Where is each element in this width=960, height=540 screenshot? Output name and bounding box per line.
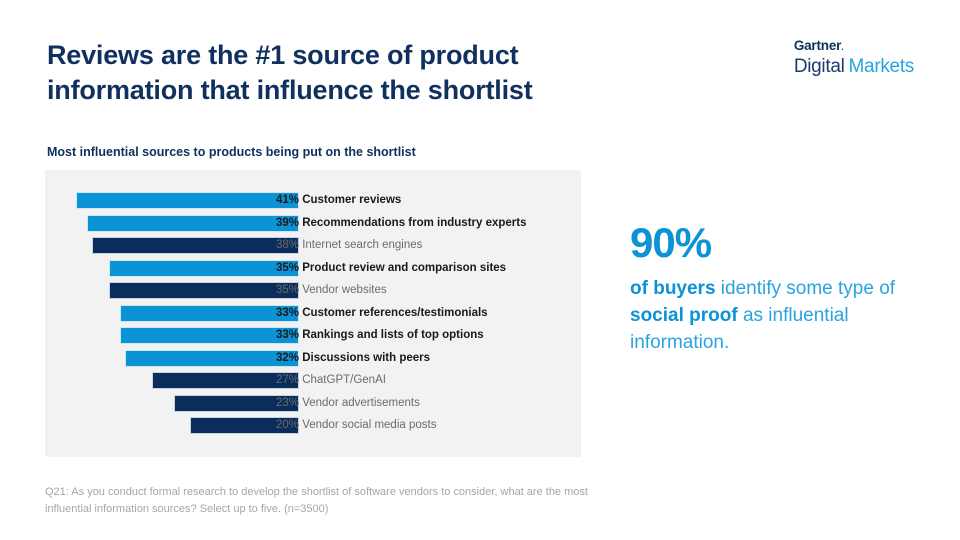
logo-subbrand-line: DigitalMarkets — [794, 56, 914, 79]
chart-row: 20% Vendor social media posts — [45, 415, 581, 438]
chart-row: 35% Vendor websites — [45, 280, 581, 303]
logo-subbrand-digital: Digital — [794, 56, 845, 77]
chart-row: 23% Vendor advertisements — [45, 393, 581, 416]
callout-percentage: 90% — [630, 222, 920, 264]
bar-blue — [109, 260, 299, 277]
bar-blue — [76, 192, 299, 209]
stat-callout: 90% of buyers identify some type of soci… — [630, 222, 920, 357]
chart-row: 39% Recommendations from industry expert… — [45, 213, 581, 236]
chart-subtitle: Most influential sources to products bei… — [47, 145, 416, 159]
callout-segment-identify: identify some type of — [716, 278, 896, 299]
chart-row: 33% Customer references/testimonials — [45, 303, 581, 326]
chart-row: 38% Internet search engines — [45, 235, 581, 258]
bar-row-label: 20% Vendor social media posts — [276, 415, 436, 436]
slide-root: Reviews are the #1 source of product inf… — [0, 0, 960, 540]
bar-blue — [125, 350, 299, 367]
chart-row: 27% ChatGPT/GenAI — [45, 370, 581, 393]
page-title: Reviews are the #1 source of product inf… — [47, 38, 707, 108]
logo-brand-line: Gartner. — [794, 38, 914, 54]
bar-row-label: 27% ChatGPT/GenAI — [276, 370, 386, 391]
page-title-line-2: information that influence the shortlist — [47, 73, 707, 108]
bar-track — [76, 192, 299, 209]
chart-row: 35% Product review and comparison sites — [45, 258, 581, 281]
bar-row-label: 35% Vendor websites — [276, 280, 387, 301]
logo-registered-mark: . — [841, 42, 843, 52]
bar-track — [76, 305, 299, 322]
callout-segment-of-buyers: of buyers — [630, 278, 716, 299]
bar-track — [76, 215, 299, 232]
chart-footnote: Q21: As you conduct formal research to d… — [45, 484, 590, 518]
bar-navy — [109, 282, 299, 299]
bar-track — [76, 350, 299, 367]
bar-track — [76, 282, 299, 299]
bar-blue — [120, 305, 300, 322]
bar-row-label: 35% Product review and comparison sites — [276, 258, 506, 279]
callout-description: of buyers identify some type of social p… — [630, 276, 920, 357]
bar-track — [76, 395, 299, 412]
bar-row-label: 38% Internet search engines — [276, 235, 422, 256]
bar-track — [76, 372, 299, 389]
bar-track — [76, 327, 299, 344]
bar-row-label: 33% Rankings and lists of top options — [276, 325, 484, 346]
logo-subbrand-markets: Markets — [849, 56, 914, 77]
bar-blue — [120, 327, 300, 344]
chart-panel: 41% Customer reviews39% Recommendations … — [45, 170, 581, 457]
bar-row-label: 23% Vendor advertisements — [276, 393, 420, 414]
page-title-line-1: Reviews are the #1 source of product — [47, 38, 707, 73]
chart-row: 32% Discussions with peers — [45, 348, 581, 371]
bar-track — [76, 417, 299, 434]
chart-row: 41% Customer reviews — [45, 190, 581, 213]
bar-row-label: 39% Recommendations from industry expert… — [276, 213, 527, 234]
chart-bar-rows: 41% Customer reviews39% Recommendations … — [45, 170, 581, 457]
bar-row-label: 33% Customer references/testimonials — [276, 303, 488, 324]
bar-track — [76, 260, 299, 277]
callout-segment-social-proof: social proof — [630, 305, 738, 326]
bar-blue — [87, 215, 299, 232]
bar-row-label: 41% Customer reviews — [276, 190, 401, 211]
bar-row-label: 32% Discussions with peers — [276, 348, 430, 369]
bar-track — [76, 237, 299, 254]
logo-brand-text: Gartner — [794, 38, 841, 53]
chart-row: 33% Rankings and lists of top options — [45, 325, 581, 348]
gartner-digital-markets-logo: Gartner. DigitalMarkets — [794, 38, 914, 78]
bar-navy — [92, 237, 299, 254]
